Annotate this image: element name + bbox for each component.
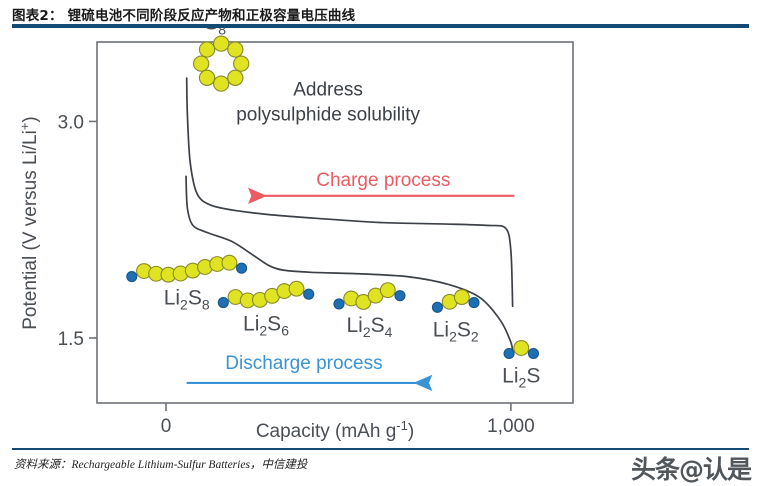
x-axis-title-sup: -1 bbox=[396, 418, 408, 433]
source-text: Rechargeable Lithium-Sulfur Batteries，中信… bbox=[72, 459, 308, 471]
y-axis-title-main: Potential (V versus Li/Li bbox=[20, 130, 41, 330]
annotation-address-line2: polysulphide solubility bbox=[236, 104, 420, 125]
sulfur-atom bbox=[514, 341, 529, 356]
x-tick-label: 1,000 bbox=[487, 416, 535, 437]
chart-area: 3.01.5 01,000 Potential (V versus Li/Li+… bbox=[0, 28, 761, 444]
y-axis-title-tail: ) bbox=[20, 116, 41, 122]
sulfur-atom bbox=[194, 56, 209, 71]
y-tick-label: 1.5 bbox=[58, 329, 84, 350]
x-axis-title: Capacity (mAh g-1) bbox=[256, 418, 414, 442]
lithium-atom bbox=[127, 272, 137, 282]
lithium-atom bbox=[504, 349, 514, 359]
sulfur-atom bbox=[454, 290, 469, 305]
annotation-address-line1: Address bbox=[293, 79, 363, 100]
x-tick-label: 0 bbox=[161, 416, 172, 437]
lithium-atom bbox=[304, 289, 314, 299]
sulfur-atom bbox=[289, 281, 304, 296]
figure-title: 图表2： 锂硫电池不同阶段反应产物和正极容量电压曲线 bbox=[12, 4, 355, 24]
sulfur-atom bbox=[214, 36, 229, 51]
voltage-capacity-chart: 3.01.5 01,000 Potential (V versus Li/Li+… bbox=[0, 28, 761, 444]
lithium-atom bbox=[334, 299, 344, 309]
sulfur-atom bbox=[228, 42, 243, 57]
sulfur-atom bbox=[214, 76, 229, 91]
sulfur-atom bbox=[380, 283, 395, 298]
y-tick-label: 3.0 bbox=[58, 112, 84, 133]
lithium-atom bbox=[395, 291, 405, 301]
lithium-atom bbox=[237, 263, 247, 273]
source-note: 资料来源：Rechargeable Lithium-Sulfur Batteri… bbox=[14, 456, 307, 472]
x-axis-title-tail: ) bbox=[408, 421, 414, 442]
sulfur-atom bbox=[234, 56, 249, 71]
sulfur-atom bbox=[228, 70, 243, 85]
lithium-atom bbox=[469, 298, 479, 308]
y-axis-title: Potential (V versus Li/Li+) bbox=[17, 116, 41, 330]
x-axis-title-main: Capacity (mAh g bbox=[256, 421, 396, 442]
species-label: S8 bbox=[204, 28, 226, 38]
lithium-atom bbox=[432, 302, 442, 312]
annotation-charge-process: Charge process bbox=[316, 170, 450, 191]
y-axis-ticks: 3.01.5 bbox=[58, 112, 97, 350]
sulfur-atom bbox=[199, 70, 214, 85]
annotation-discharge-process: Discharge process bbox=[225, 353, 382, 374]
sulfur-atom bbox=[222, 255, 237, 270]
lithium-atom bbox=[218, 298, 228, 308]
lithium-atom bbox=[528, 349, 538, 359]
figure-title-text: 锂硫电池不同阶段反应产物和正极容量电压曲线 bbox=[68, 8, 356, 24]
figure-colon: ： bbox=[49, 8, 63, 24]
figure-number: 图表2 bbox=[12, 8, 49, 24]
source-label: 资料来源： bbox=[14, 459, 72, 471]
y-axis-title-sup: + bbox=[17, 123, 32, 131]
watermark: 头条@认是 bbox=[631, 450, 751, 486]
sulfur-atom bbox=[199, 42, 214, 57]
